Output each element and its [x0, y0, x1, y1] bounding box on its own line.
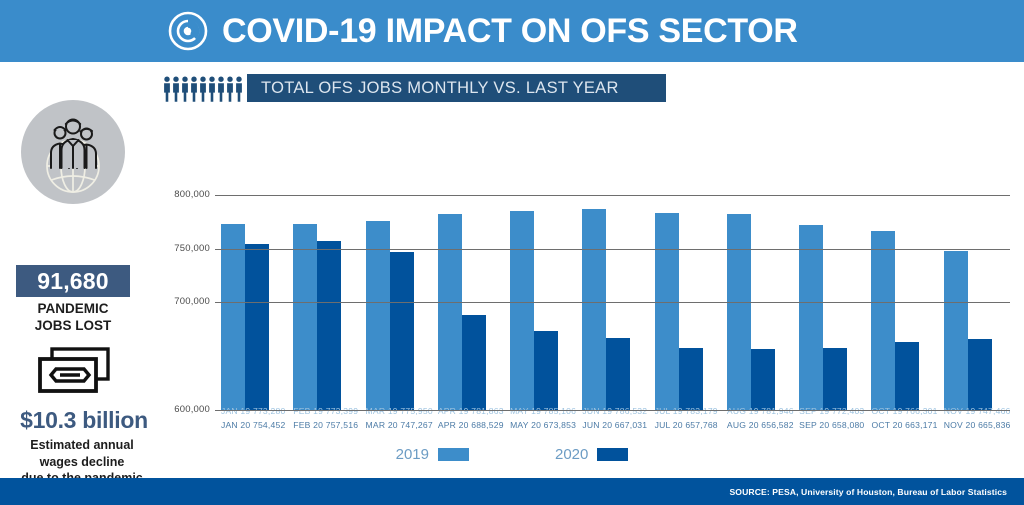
bar-group [944, 178, 992, 410]
bar-2020[interactable] [679, 348, 703, 410]
x-tick-2020: JUN 20 667,031 [582, 419, 647, 433]
y-axis-tick-label: 800,000 [166, 189, 210, 200]
plot-area: JAN 19 773,280JAN 20 754,452FEB 19 773,3… [215, 62, 1010, 478]
bar-2019[interactable] [582, 209, 606, 410]
x-tick-2020: MAY 20 673,853 [510, 419, 576, 433]
x-tick-2020: JUL 20 657,768 [655, 419, 718, 433]
x-tick-2019: MAR 19 775,950 [366, 405, 433, 419]
bar-group [871, 178, 919, 410]
x-tick-2019: OCT 19 766,301 [871, 405, 937, 419]
bar-group [510, 178, 558, 410]
x-tick-2020: MAR 20 747,267 [366, 419, 433, 433]
y-axis-tick-label: 700,000 [166, 296, 210, 307]
bar-2020[interactable] [390, 252, 414, 410]
bar-2019[interactable] [293, 224, 317, 410]
spiral-logo-icon [168, 11, 208, 51]
bar-2020[interactable] [534, 331, 558, 410]
page-title: COVID-19 IMPACT ON OFS SECTOR [222, 12, 798, 51]
bar-2020[interactable] [751, 349, 775, 410]
x-tick-2019: SEP 19 772,403 [799, 405, 864, 419]
bar-2019[interactable] [221, 224, 245, 410]
bar-group [438, 178, 486, 410]
x-tick-2020: NOV 20 665,836 [944, 419, 1011, 433]
bar-group [366, 178, 414, 410]
gridline [215, 410, 1010, 411]
bar-2019[interactable] [727, 214, 751, 410]
gridline [215, 249, 1010, 250]
bar-2019[interactable] [871, 231, 895, 410]
bar-group [293, 178, 341, 410]
bar-2019[interactable] [799, 225, 823, 410]
bar-2020[interactable] [823, 348, 847, 410]
bar-group [727, 178, 775, 410]
gridline [215, 302, 1010, 303]
x-tick-2019: JUL 19 783,179 [655, 405, 718, 419]
legend-item[interactable]: 2020 [555, 446, 628, 463]
bar-2020[interactable] [317, 241, 341, 410]
bar-group [221, 178, 269, 410]
x-tick-2020: AUG 20 656,582 [727, 419, 794, 433]
page-header: COVID-19 IMPACT ON OFS SECTOR [0, 0, 1024, 62]
x-tick-2019: JAN 19 773,280 [221, 405, 285, 419]
legend-swatch [597, 448, 628, 461]
bar-group [799, 178, 847, 410]
bar-2020[interactable] [606, 338, 630, 410]
bar-group [582, 178, 630, 410]
bar-2020[interactable] [462, 315, 486, 410]
bar-group [655, 178, 703, 410]
bar-chart: JAN 19 773,280JAN 20 754,452FEB 19 773,3… [0, 62, 1024, 478]
bar-2020[interactable] [245, 244, 269, 410]
x-tick-2019: AUG 19 781,946 [727, 405, 794, 419]
y-axis-tick-label: 600,000 [166, 404, 210, 415]
x-tick-2020: APR 20 688,529 [438, 419, 504, 433]
x-tick-2020: OCT 20 663,171 [871, 419, 937, 433]
page-footer: SOURCE: PESA, University of Houston, Bur… [0, 478, 1024, 505]
x-tick-2020: SEP 20 658,080 [799, 419, 864, 433]
x-tick-2019: APR 19 781,863 [438, 405, 504, 419]
legend-label: 2020 [555, 446, 588, 463]
legend-label: 2019 [396, 446, 429, 463]
chart-legend: 20192020 [0, 443, 1024, 465]
bar-2020[interactable] [895, 342, 919, 410]
bar-2019[interactable] [655, 213, 679, 410]
x-tick-2019: FEB 19 773,399 [293, 405, 358, 419]
gridline [215, 195, 1010, 196]
bar-2019[interactable] [510, 211, 534, 410]
legend-swatch [438, 448, 469, 461]
x-tick-2020: JAN 20 754,452 [221, 419, 285, 433]
bar-2020[interactable] [968, 339, 992, 410]
legend-item[interactable]: 2019 [396, 446, 469, 463]
source-credit: SOURCE: PESA, University of Houston, Bur… [729, 487, 1007, 497]
x-tick-2020: FEB 20 757,516 [293, 419, 358, 433]
x-tick-2019: NOV 19 747,466 [944, 405, 1011, 419]
x-tick-2019: JUN 19 786,532 [582, 405, 647, 419]
bar-2019[interactable] [438, 214, 462, 410]
y-axis-tick-label: 750,000 [166, 243, 210, 254]
x-tick-2019: MAY 19 785,106 [510, 405, 576, 419]
bar-2019[interactable] [944, 251, 968, 410]
